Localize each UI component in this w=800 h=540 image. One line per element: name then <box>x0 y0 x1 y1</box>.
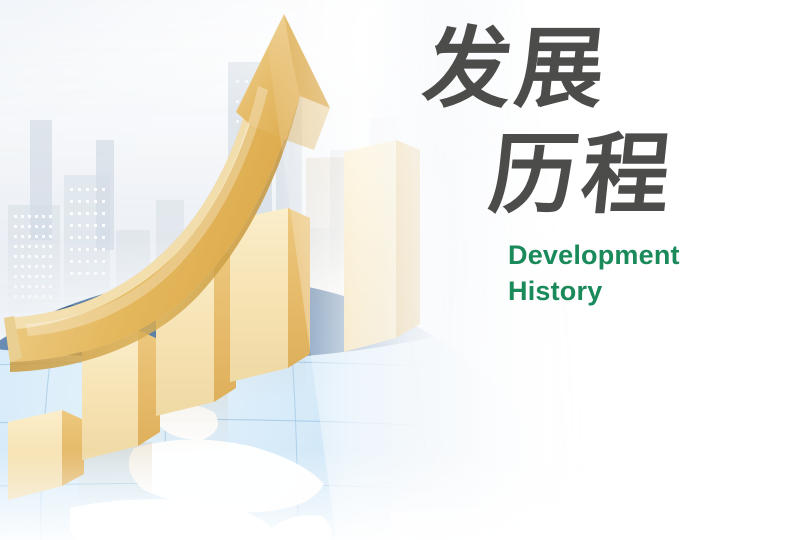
title-english-block: Development History <box>508 238 718 309</box>
title-chinese-text-2: 历程 <box>485 130 678 218</box>
title-chinese-line-2: 历程 <box>418 112 718 218</box>
growth-arrow-icon <box>0 0 420 400</box>
bar-1 <box>8 410 84 500</box>
headline-block: 发展 历程 Development History <box>418 24 718 309</box>
title-chinese-text-1: 发展 <box>419 24 612 112</box>
title-english-line-1: Development <box>508 238 718 274</box>
banner-image: 发展 历程 Development History <box>0 0 800 540</box>
title-english-line-2: History <box>508 274 718 310</box>
title-chinese-line-1: 发展 <box>418 24 718 112</box>
